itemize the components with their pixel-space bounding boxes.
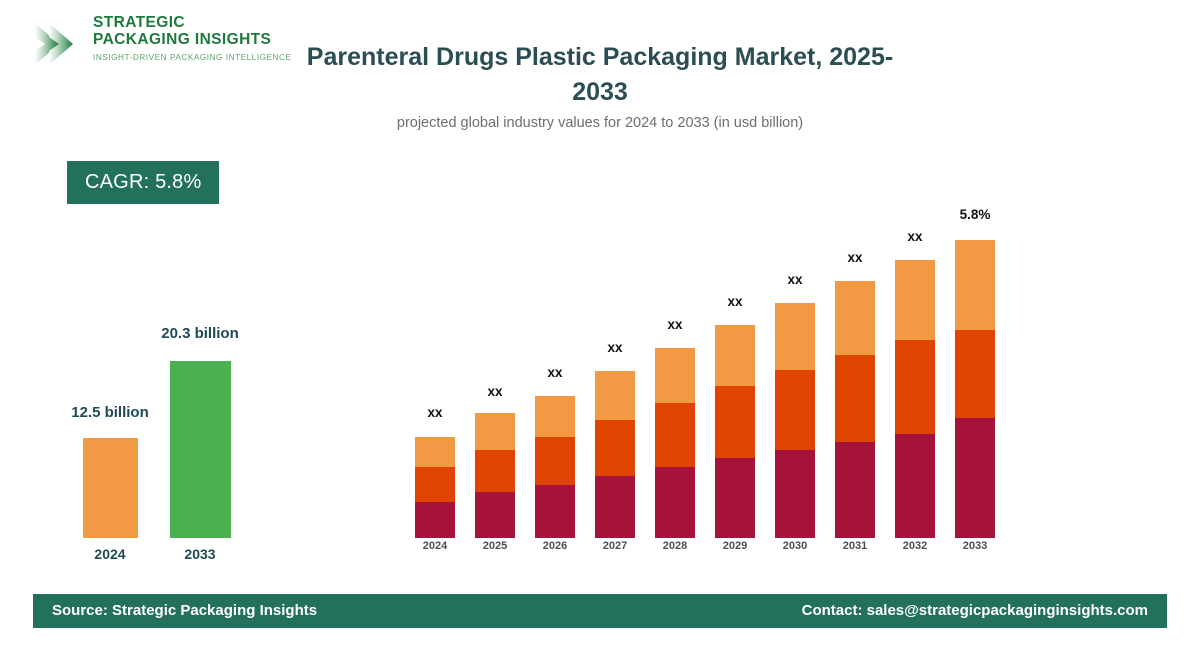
stacked-segment-bottom-2030	[775, 450, 815, 538]
stacked-year-label-2024: 2024	[405, 540, 465, 552]
stacked-year-label-2031: 2031	[825, 540, 885, 552]
infographic-page: STRATEGIC PACKAGING INSIGHTS INSIGHT-DRI…	[0, 0, 1200, 650]
stacked-year-label-2026: 2026	[525, 540, 585, 552]
stacked-data-label-2030: xx	[765, 272, 825, 287]
stacked-segment-top-2030	[775, 303, 815, 370]
stacked-bar-2031	[835, 281, 875, 538]
stacked-segment-bottom-2027	[595, 476, 635, 538]
stacked-bar-2033	[955, 240, 995, 538]
stacked-segment-bottom-2024	[415, 502, 455, 538]
stacked-segment-top-2025	[475, 413, 515, 450]
stacked-segment-bottom-2025	[475, 492, 515, 538]
stacked-data-label-2029: xx	[705, 294, 765, 309]
stacked-data-label-2024: xx	[405, 405, 465, 420]
stacked-segment-middle-2024	[415, 467, 455, 502]
stacked-year-label-2033: 2033	[945, 540, 1005, 552]
stacked-segment-top-2026	[535, 396, 575, 437]
stacked-segment-middle-2029	[715, 386, 755, 458]
stacked-segment-middle-2031	[835, 355, 875, 442]
stacked-segment-top-2031	[835, 281, 875, 355]
stacked-year-label-2028: 2028	[645, 540, 705, 552]
stacked-bar-2027	[595, 371, 635, 538]
stacked-year-label-2032: 2032	[885, 540, 945, 552]
stacked-segment-top-2029	[715, 325, 755, 386]
stacked-segment-bottom-2026	[535, 485, 575, 538]
stacked-segment-middle-2033	[955, 330, 995, 418]
stacked-segment-middle-2032	[895, 340, 935, 434]
stacked-segment-bottom-2028	[655, 467, 695, 538]
stacked-segment-top-2024	[415, 437, 455, 467]
stacked-data-label-2028: xx	[645, 317, 705, 332]
stacked-year-label-2030: 2030	[765, 540, 825, 552]
stacked-year-label-2029: 2029	[705, 540, 765, 552]
stacked-year-label-2027: 2027	[585, 540, 645, 552]
stacked-forecast-chart: xx 2024 xx 2025 xx 2026 xx 202	[0, 0, 1200, 650]
stacked-segment-top-2028	[655, 348, 695, 403]
stacked-segment-top-2027	[595, 371, 635, 420]
stacked-bar-2024	[415, 437, 455, 538]
footer-source: Source: Strategic Packaging Insights	[52, 594, 317, 628]
stacked-segment-middle-2027	[595, 420, 635, 476]
stacked-data-label-2033: 5.8%	[945, 207, 1005, 222]
stacked-segment-top-2033	[955, 240, 995, 330]
stacked-bar-2026	[535, 396, 575, 538]
stacked-data-label-2026: xx	[525, 365, 585, 380]
stacked-segment-top-2032	[895, 260, 935, 340]
stacked-bar-2030	[775, 303, 815, 538]
stacked-bar-2028	[655, 348, 695, 538]
stacked-segment-middle-2030	[775, 370, 815, 450]
stacked-segment-middle-2026	[535, 437, 575, 485]
stacked-bar-2029	[715, 325, 755, 538]
stacked-segment-bottom-2029	[715, 458, 755, 538]
stacked-year-label-2025: 2025	[465, 540, 525, 552]
stacked-data-label-2025: xx	[465, 384, 525, 399]
footer-contact[interactable]: Contact: sales@strategicpackaginginsight…	[802, 594, 1148, 628]
stacked-segment-bottom-2033	[955, 418, 995, 538]
footer-bar: Source: Strategic Packaging Insights Con…	[33, 594, 1167, 628]
stacked-bar-2032	[895, 260, 935, 538]
stacked-segment-bottom-2031	[835, 442, 875, 538]
stacked-data-label-2027: xx	[585, 340, 645, 355]
stacked-data-label-2031: xx	[825, 250, 885, 265]
stacked-segment-middle-2028	[655, 403, 695, 467]
stacked-segment-middle-2025	[475, 450, 515, 492]
stacked-data-label-2032: xx	[885, 229, 945, 244]
stacked-segment-bottom-2032	[895, 434, 935, 538]
stacked-bar-2025	[475, 413, 515, 538]
